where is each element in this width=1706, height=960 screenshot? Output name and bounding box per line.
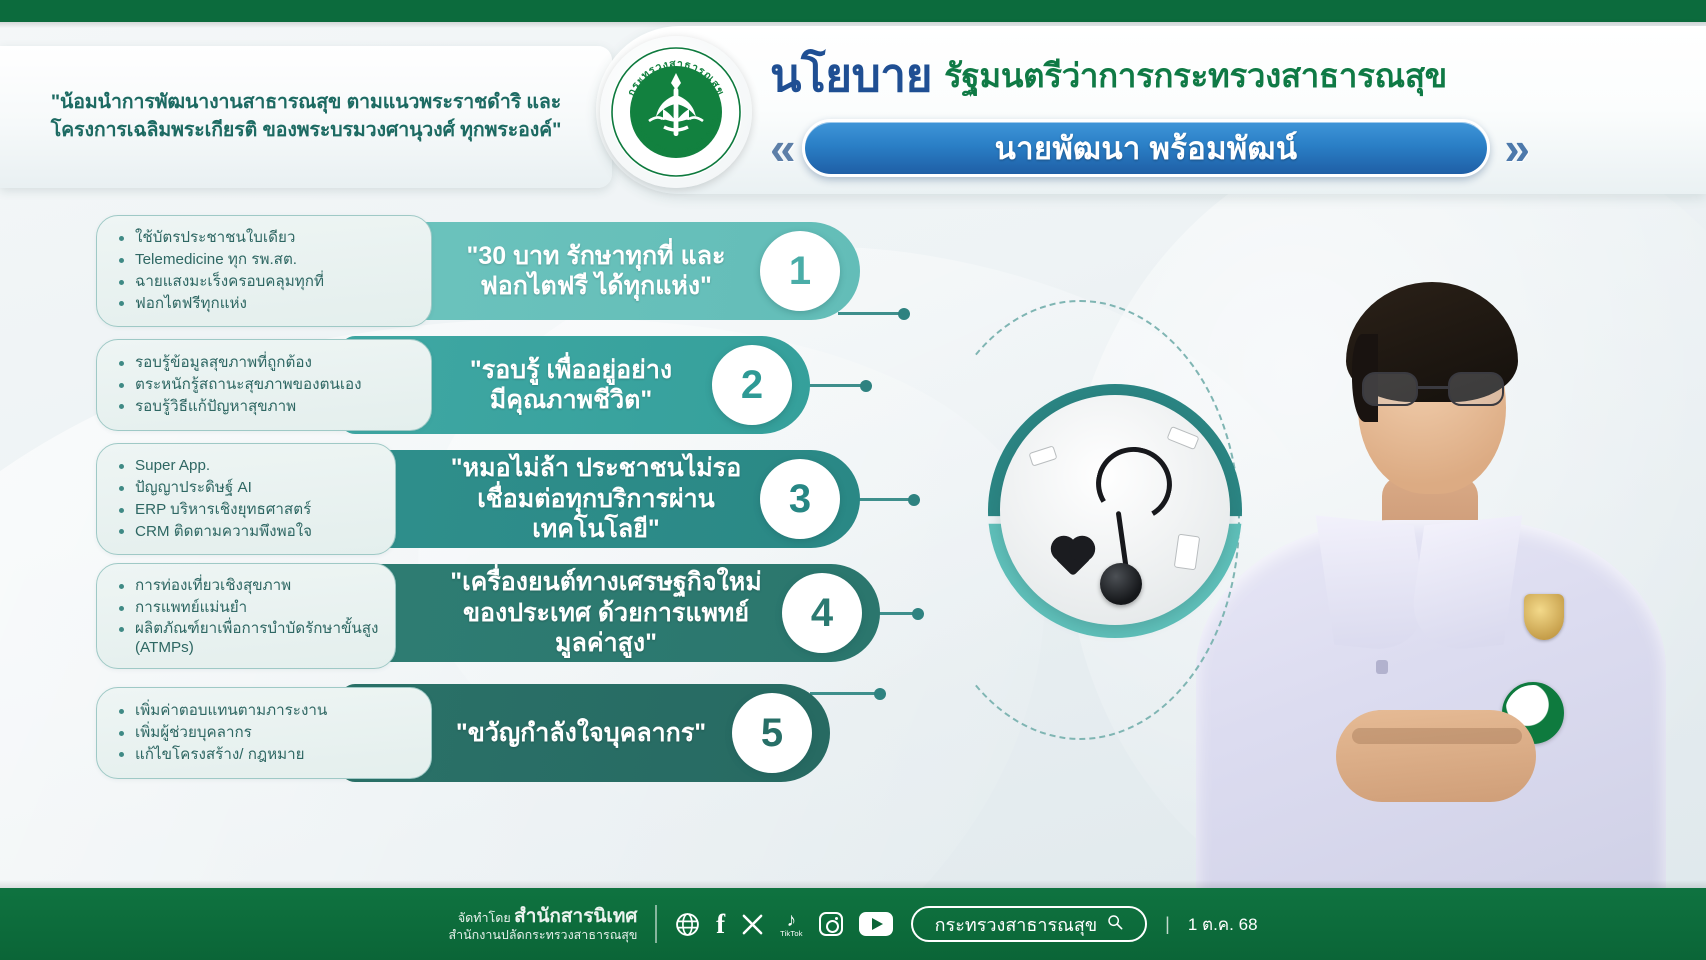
policy-bullets-card-2: รอบรู้ข้อมูลสุขภาพที่ถูกต้อง ตระหนักรู้ส… [96, 339, 432, 431]
policy-number-5: 5 [761, 713, 783, 753]
youtube-icon[interactable] [859, 912, 893, 936]
chevron-right-icon: » [1504, 125, 1530, 171]
ministry-search-button[interactable]: กระทรวงสาธารณสุข [911, 906, 1148, 942]
medicine-strip-icon-2 [1166, 426, 1199, 450]
policy-bullet: ฉายแสงมะเร็งครอบคลุมทุกที่ [115, 271, 415, 293]
medicine-strip-icon-1 [1028, 445, 1057, 466]
x-twitter-icon[interactable] [741, 913, 764, 936]
footer-credit-prefix: จัดทำโดย [458, 911, 511, 925]
policy-bullet: ผลิตภัณฑ์ยาเพื่อการบำบัดรักษาขั้นสูง (AT… [115, 619, 379, 657]
footer-credit-sub: สำนักงานปลัดกระทรวงสาธารณสุข [448, 928, 637, 943]
footer-social-links: f ♪ TikTok [675, 909, 893, 940]
policy-bullets-card-1: ใช้บัตรประชาชนใบเดียว Telemedicine ทุก ร… [96, 215, 432, 327]
chevron-left-icon: « [770, 125, 796, 171]
tiktok-label: TikTok [780, 930, 803, 938]
page-title: นโยบาย รัฐมนตรีว่าการกระทรวงสาธารณสุข [770, 44, 1447, 106]
minister-name-badge: นายพัฒนา พร้อมพัฒน์ [802, 119, 1491, 177]
glasses-lens-right [1448, 372, 1504, 406]
policy-number-4: 4 [811, 593, 833, 633]
page-title-word-minister: รัฐมนตรีว่าการกระทรวงสาธารณสุข [944, 49, 1447, 102]
policy-number-1: 1 [789, 251, 811, 291]
policy-number-3: 3 [789, 479, 811, 519]
policy-number-badge-4: 4 [782, 573, 862, 653]
footer-credit: จัดทำโดย สำนักสารนิเทศ สำนักงานปลัดกระทร… [448, 905, 637, 943]
glasses-lens-left [1362, 372, 1418, 406]
tiktok-icon[interactable]: ♪ TikTok [780, 911, 803, 938]
tiktok-note-glyph: ♪ [787, 911, 797, 930]
footer-divider-1 [655, 905, 657, 943]
search-icon [1107, 914, 1123, 935]
policy-bullet: ปัญญาประดิษฐ์ AI [115, 477, 379, 499]
policy-bullet: เพิ่มผู้ช่วยบุคลากร [115, 722, 415, 744]
stethoscope-tubing-icon [1088, 439, 1180, 529]
policy-bullet: ตระหนักรู้สถานะสุขภาพของตนเอง [115, 374, 415, 396]
footer-bar: จัดทำโดย สำนักสารนิเทศ สำนักงานปลัดกระทร… [0, 888, 1706, 960]
connector-knob-2 [860, 380, 872, 392]
footer-credit-office: สำนักสารนิเทศ [514, 906, 637, 927]
portrait-gold-insignia [1524, 594, 1564, 640]
footer-credit-line1: จัดทำโดย สำนักสารนิเทศ [448, 905, 637, 928]
policy-bullet: แก้ไขโครงสร้าง/ กฎหมาย [115, 744, 415, 766]
footer-shadow [0, 880, 1706, 888]
footer-date: 1 ต.ค. 68 [1188, 911, 1258, 938]
policy-row-2: "รอบรู้ เพื่ออยู่อย่าง มีคุณภาพชีวิต" รอ… [0, 336, 960, 434]
policy-row-5: "ขวัญกำลังใจบุคลากร" เพิ่มค่าตอบแทนตามภา… [0, 684, 960, 782]
connector-knob-1 [898, 308, 910, 320]
policy-bullet: ใช้บัตรประชาชนใบเดียว [115, 227, 415, 249]
policy-bullet: รอบรู้ข้อมูลสุขภาพที่ถูกต้อง [115, 352, 415, 374]
connector-knob-3 [908, 494, 920, 506]
policy-bullet: Super App. [115, 455, 379, 477]
connector-knob-5 [874, 688, 886, 700]
policy-list: "30 บาท รักษาทุกที่ และ ฟอกไตฟรี ได้ทุกแ… [0, 222, 960, 798]
policy-row-1: "30 บาท รักษาทุกที่ และ ฟอกไตฟรี ได้ทุกแ… [0, 222, 960, 320]
instagram-icon[interactable] [819, 912, 843, 936]
royal-initiative-quote-text: "น้อมนำการพัฒนางานสาธารณสุข ตามแนวพระราช… [0, 89, 612, 144]
policy-title-5: "ขวัญกำลังใจบุคลากร" [450, 718, 712, 749]
policy-title-2: "รอบรู้ เพื่ออยู่อย่าง มีคุณภาพชีวิต" [450, 355, 692, 416]
policy-title-4: "เครื่องยนต์ทางเศรษฐกิจใหม่ ของประเทศ ด้… [450, 567, 762, 659]
stethoscope-photo-circle [1000, 395, 1230, 625]
policy-number-badge-5: 5 [732, 693, 812, 773]
policy-bullet: ERP บริหารเชิงยุทธศาสตร์ [115, 499, 379, 521]
policy-title-1: "30 บาท รักษาทุกที่ และ ฟอกไตฟรี ได้ทุกแ… [450, 241, 742, 302]
policy-bullet: ฟอกไตฟรีทุกแห่ง [115, 293, 415, 315]
policy-row-3: "หมอไม่ล้า ประชาชนไม่รอ เชื่อมต่อทุกบริก… [0, 450, 960, 548]
policy-connector-1 [838, 312, 904, 315]
policy-bullets-card-3: Super App. ปัญญาประดิษฐ์ AI ERP บริหารเช… [96, 443, 396, 555]
policy-bullet: Telemedicine ทุก รพ.สต. [115, 249, 415, 271]
policy-row-4: "เครื่องยนต์ทางเศรษฐกิจใหม่ ของประเทศ ด้… [0, 564, 960, 668]
heart-icon [1055, 540, 1092, 577]
page-title-word-policy: นโยบาย [770, 39, 932, 112]
policy-number-badge-1: 1 [760, 231, 840, 311]
portrait-folded-hands [1336, 710, 1536, 802]
policy-number-2: 2 [741, 365, 763, 405]
minister-name-row: « นายพัฒนา พร้อมพัฒน์ » [770, 117, 1530, 179]
website-globe-icon[interactable] [675, 912, 700, 937]
policy-number-badge-2: 2 [712, 345, 792, 425]
policy-number-badge-3: 3 [760, 459, 840, 539]
stethoscope-chestpiece-icon [1100, 563, 1142, 605]
policy-title-3: "หมอไม่ล้า ประชาชนไม่รอ เชื่อมต่อทุกบริก… [450, 453, 742, 545]
top-green-strip [0, 0, 1706, 22]
policy-bullet: เพิ่มค่าตอบแทนตามภาระงาน [115, 700, 415, 722]
ministry-of-public-health-logo: กระทรวงสาธารณสุข MINISTRY OF PUBLIC HEAL… [600, 36, 752, 188]
facebook-icon[interactable]: f [716, 909, 725, 940]
medicine-strip-icon-3 [1174, 534, 1201, 571]
policy-bullets-card-5: เพิ่มค่าตอบแทนตามภาระงาน เพิ่มผู้ช่วยบุค… [96, 687, 432, 779]
connector-knob-4 [912, 608, 924, 620]
policy-bullet: CRM ติดตามความพึงพอใจ [115, 521, 379, 543]
policy-bullet: รอบรู้วิธีแก้ปัญหาสุขภาพ [115, 396, 415, 418]
policy-connector-5 [810, 692, 880, 695]
minister-name-label: นายพัฒนา พร้อมพัฒน์ [995, 123, 1298, 173]
policy-bullets-card-4: การท่องเที่ยวเชิงสุขภาพ การแพทย์แม่นยำ ผ… [96, 563, 396, 669]
policy-bullet: การท่องเที่ยวเชิงสุขภาพ [115, 575, 379, 597]
infographic-canvas: "น้อมนำการพัฒนางานสาธารณสุข ตามแนวพระราช… [0, 0, 1706, 960]
glasses-bridge [1418, 386, 1448, 389]
royal-initiative-quote-panel: "น้อมนำการพัฒนางานสาธารณสุข ตามแนวพระราช… [0, 46, 612, 188]
policy-bullet: การแพทย์แม่นยำ [115, 597, 379, 619]
shirt-button-1 [1376, 660, 1388, 674]
footer-separator: | [1165, 914, 1170, 935]
ministry-search-label: กระทรวงสาธารณสุข [935, 910, 1098, 939]
portrait-glasses [1362, 372, 1504, 406]
